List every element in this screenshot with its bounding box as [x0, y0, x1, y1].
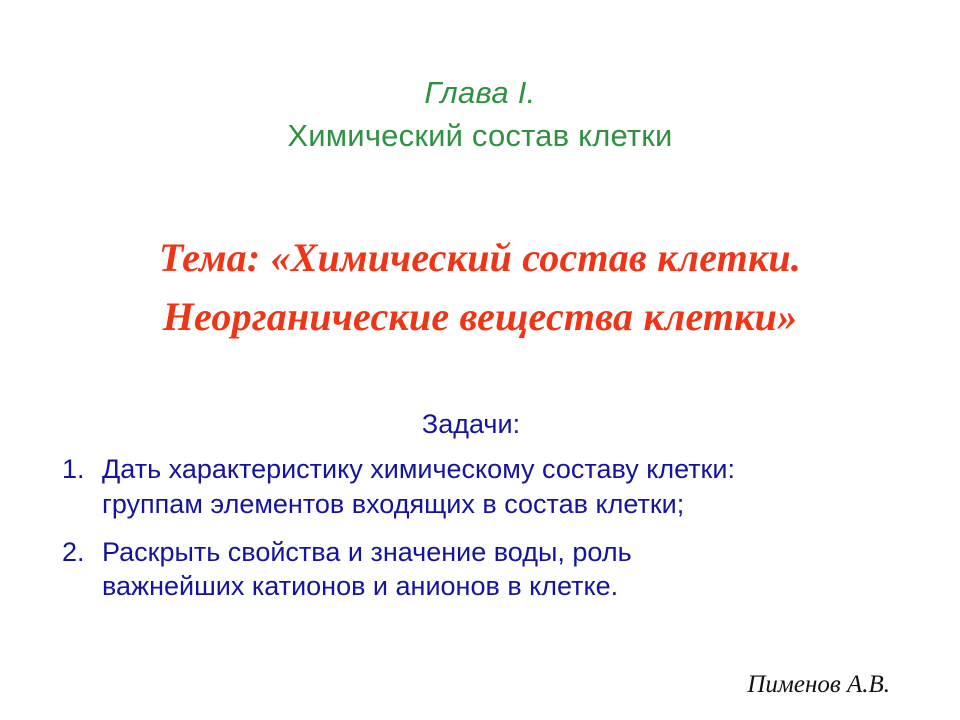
objective-marker: 1. [40, 452, 102, 486]
chapter-heading-line-2: Химический состав клетки [0, 115, 960, 158]
objective-marker: 2. [40, 535, 102, 569]
list-item: 1. Дать характеристику химическому соста… [40, 452, 920, 521]
topic-title-line-1: Тема: «Химический состав клетки. [40, 228, 920, 287]
objectives-heading: Задачи: [40, 408, 920, 440]
objective-text-line-1: Раскрыть свойства и значение воды, роль [102, 535, 920, 569]
objectives-list: 1. Дать характеристику химическому соста… [40, 452, 920, 603]
topic-title-line-2: Неорганические вещества клетки» [40, 287, 920, 346]
slide-canvas: Глава I. Химический состав клетки Тема: … [0, 0, 960, 720]
objective-text: Дать характеристику химическому составу … [102, 452, 920, 521]
objective-text-line-2: группам элементов входящих в состав клет… [102, 487, 920, 521]
objective-text-line-1: Дать характеристику химическому составу … [102, 452, 920, 486]
chapter-heading: Глава I. Химический состав клетки [0, 72, 960, 158]
topic-title: Тема: «Химический состав клетки. Неорган… [40, 228, 920, 346]
author-footer: Пименов А.В. [747, 670, 890, 700]
objective-text: Раскрыть свойства и значение воды, роль … [102, 535, 920, 604]
list-item: 2. Раскрыть свойства и значение воды, ро… [40, 535, 920, 604]
objectives-block: Задачи: 1. Дать характеристику химическо… [40, 408, 920, 604]
chapter-heading-line-1: Глава I. [0, 72, 960, 115]
objective-text-line-2: важнейших катионов и анионов в клетке. [102, 569, 920, 603]
